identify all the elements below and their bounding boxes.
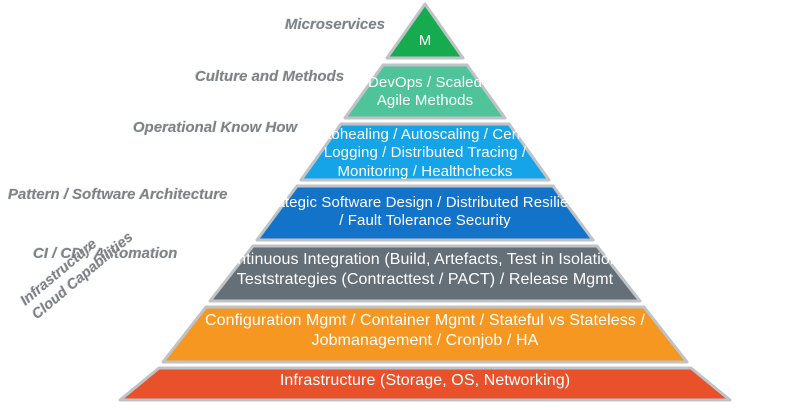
band-text-pattern-software-architecture: Strategic Software Design / Distributed … (230, 194, 620, 231)
band-text-microservices: M (405, 32, 445, 50)
band-text-culture-and-methods: DevOps / Scaled Agile Methods (350, 74, 500, 111)
band-text-infrastructure-cloud-capabilities: Configuration Mgmt / Container Mgmt / St… (136, 311, 714, 350)
side-label-culture-and-methods: Culture and Methods (195, 68, 344, 87)
band-text-ci-cd-automation: Continuous Integration (Build, Artefacts… (178, 250, 672, 289)
side-label-microservices: Microservices (285, 16, 385, 35)
side-label-operational-know-how: Operational Know How (133, 119, 297, 138)
band-text-infrastructure: Infrastructure (Storage, OS, Networking) (96, 371, 754, 391)
band-text-operational-know-how: Autohealing / Autoscaling / Central Logg… (296, 126, 554, 181)
side-label-pattern-software-architecture: Pattern / Software Architecture (8, 186, 228, 205)
pyramid-diagram: Microservices Culture and Methods Operat… (0, 0, 797, 410)
